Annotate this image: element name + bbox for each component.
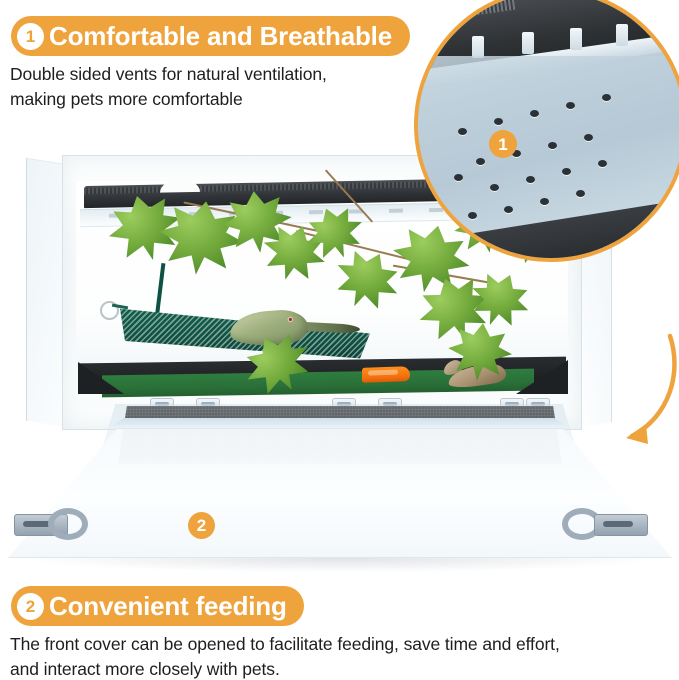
- bearded-dragon-eye: [287, 316, 293, 322]
- right-latch-plate: [594, 514, 648, 536]
- inset-wall-surface: [418, 56, 679, 258]
- vent-hole: [476, 158, 485, 165]
- callout-marker-2: 2: [188, 512, 215, 539]
- feature-2-heading-pill: 2 Convenient feeding: [11, 586, 304, 626]
- vent-hole: [494, 118, 503, 125]
- left-latch[interactable]: [14, 508, 108, 540]
- right-latch[interactable]: [552, 508, 646, 540]
- ventilation-closeup-inset: 1: [414, 0, 679, 262]
- vent-hole: [490, 184, 499, 191]
- inset-hinge-tab: [570, 28, 582, 50]
- feature-1-number-badge: 1: [17, 23, 44, 50]
- vent-hole: [562, 168, 571, 175]
- feature-2-description-line-2: and interact more closely with pets.: [10, 657, 650, 680]
- inset-lower-dark-bar: [436, 194, 679, 262]
- vent-hole: [458, 128, 467, 135]
- vent-hole: [576, 190, 585, 197]
- inset-lid-vent-mesh-icon: [414, 0, 515, 25]
- inset-hinge-tab: [616, 24, 628, 46]
- vent-hole: [602, 94, 611, 101]
- feature-2-description-line-1: The front cover can be opened to facilit…: [10, 632, 650, 657]
- infographic-page: 1 Comfortable and Breathable Double side…: [0, 0, 679, 680]
- vent-hole: [566, 102, 575, 109]
- vent-hole: [540, 198, 549, 205]
- inset-hinge-tab: [472, 36, 484, 58]
- tank-left-wall: [26, 158, 67, 427]
- feature-1-title: Comfortable and Breathable: [49, 23, 392, 49]
- vent-hole: [454, 174, 463, 181]
- vent-hole: [548, 142, 557, 149]
- feature-2-description: The front cover can be opened to facilit…: [10, 632, 650, 680]
- inset-hinge-tab: [522, 32, 534, 54]
- left-latch-ring: [48, 508, 88, 540]
- orange-food-dish: [362, 366, 410, 383]
- vent-hole: [504, 206, 513, 213]
- vent-hole: [584, 134, 593, 141]
- vent-hole: [530, 110, 539, 117]
- vent-hole: [468, 212, 477, 219]
- feature-2-number-badge: 2: [17, 593, 44, 620]
- vent-hole: [598, 160, 607, 167]
- inset-callout-marker-1: 1: [489, 130, 517, 158]
- connector-arrow-icon: [612, 332, 679, 462]
- vent-hole: [526, 176, 535, 183]
- feature-1-heading-pill: 1 Comfortable and Breathable: [11, 16, 410, 56]
- feature-2-title: Convenient feeding: [49, 593, 287, 619]
